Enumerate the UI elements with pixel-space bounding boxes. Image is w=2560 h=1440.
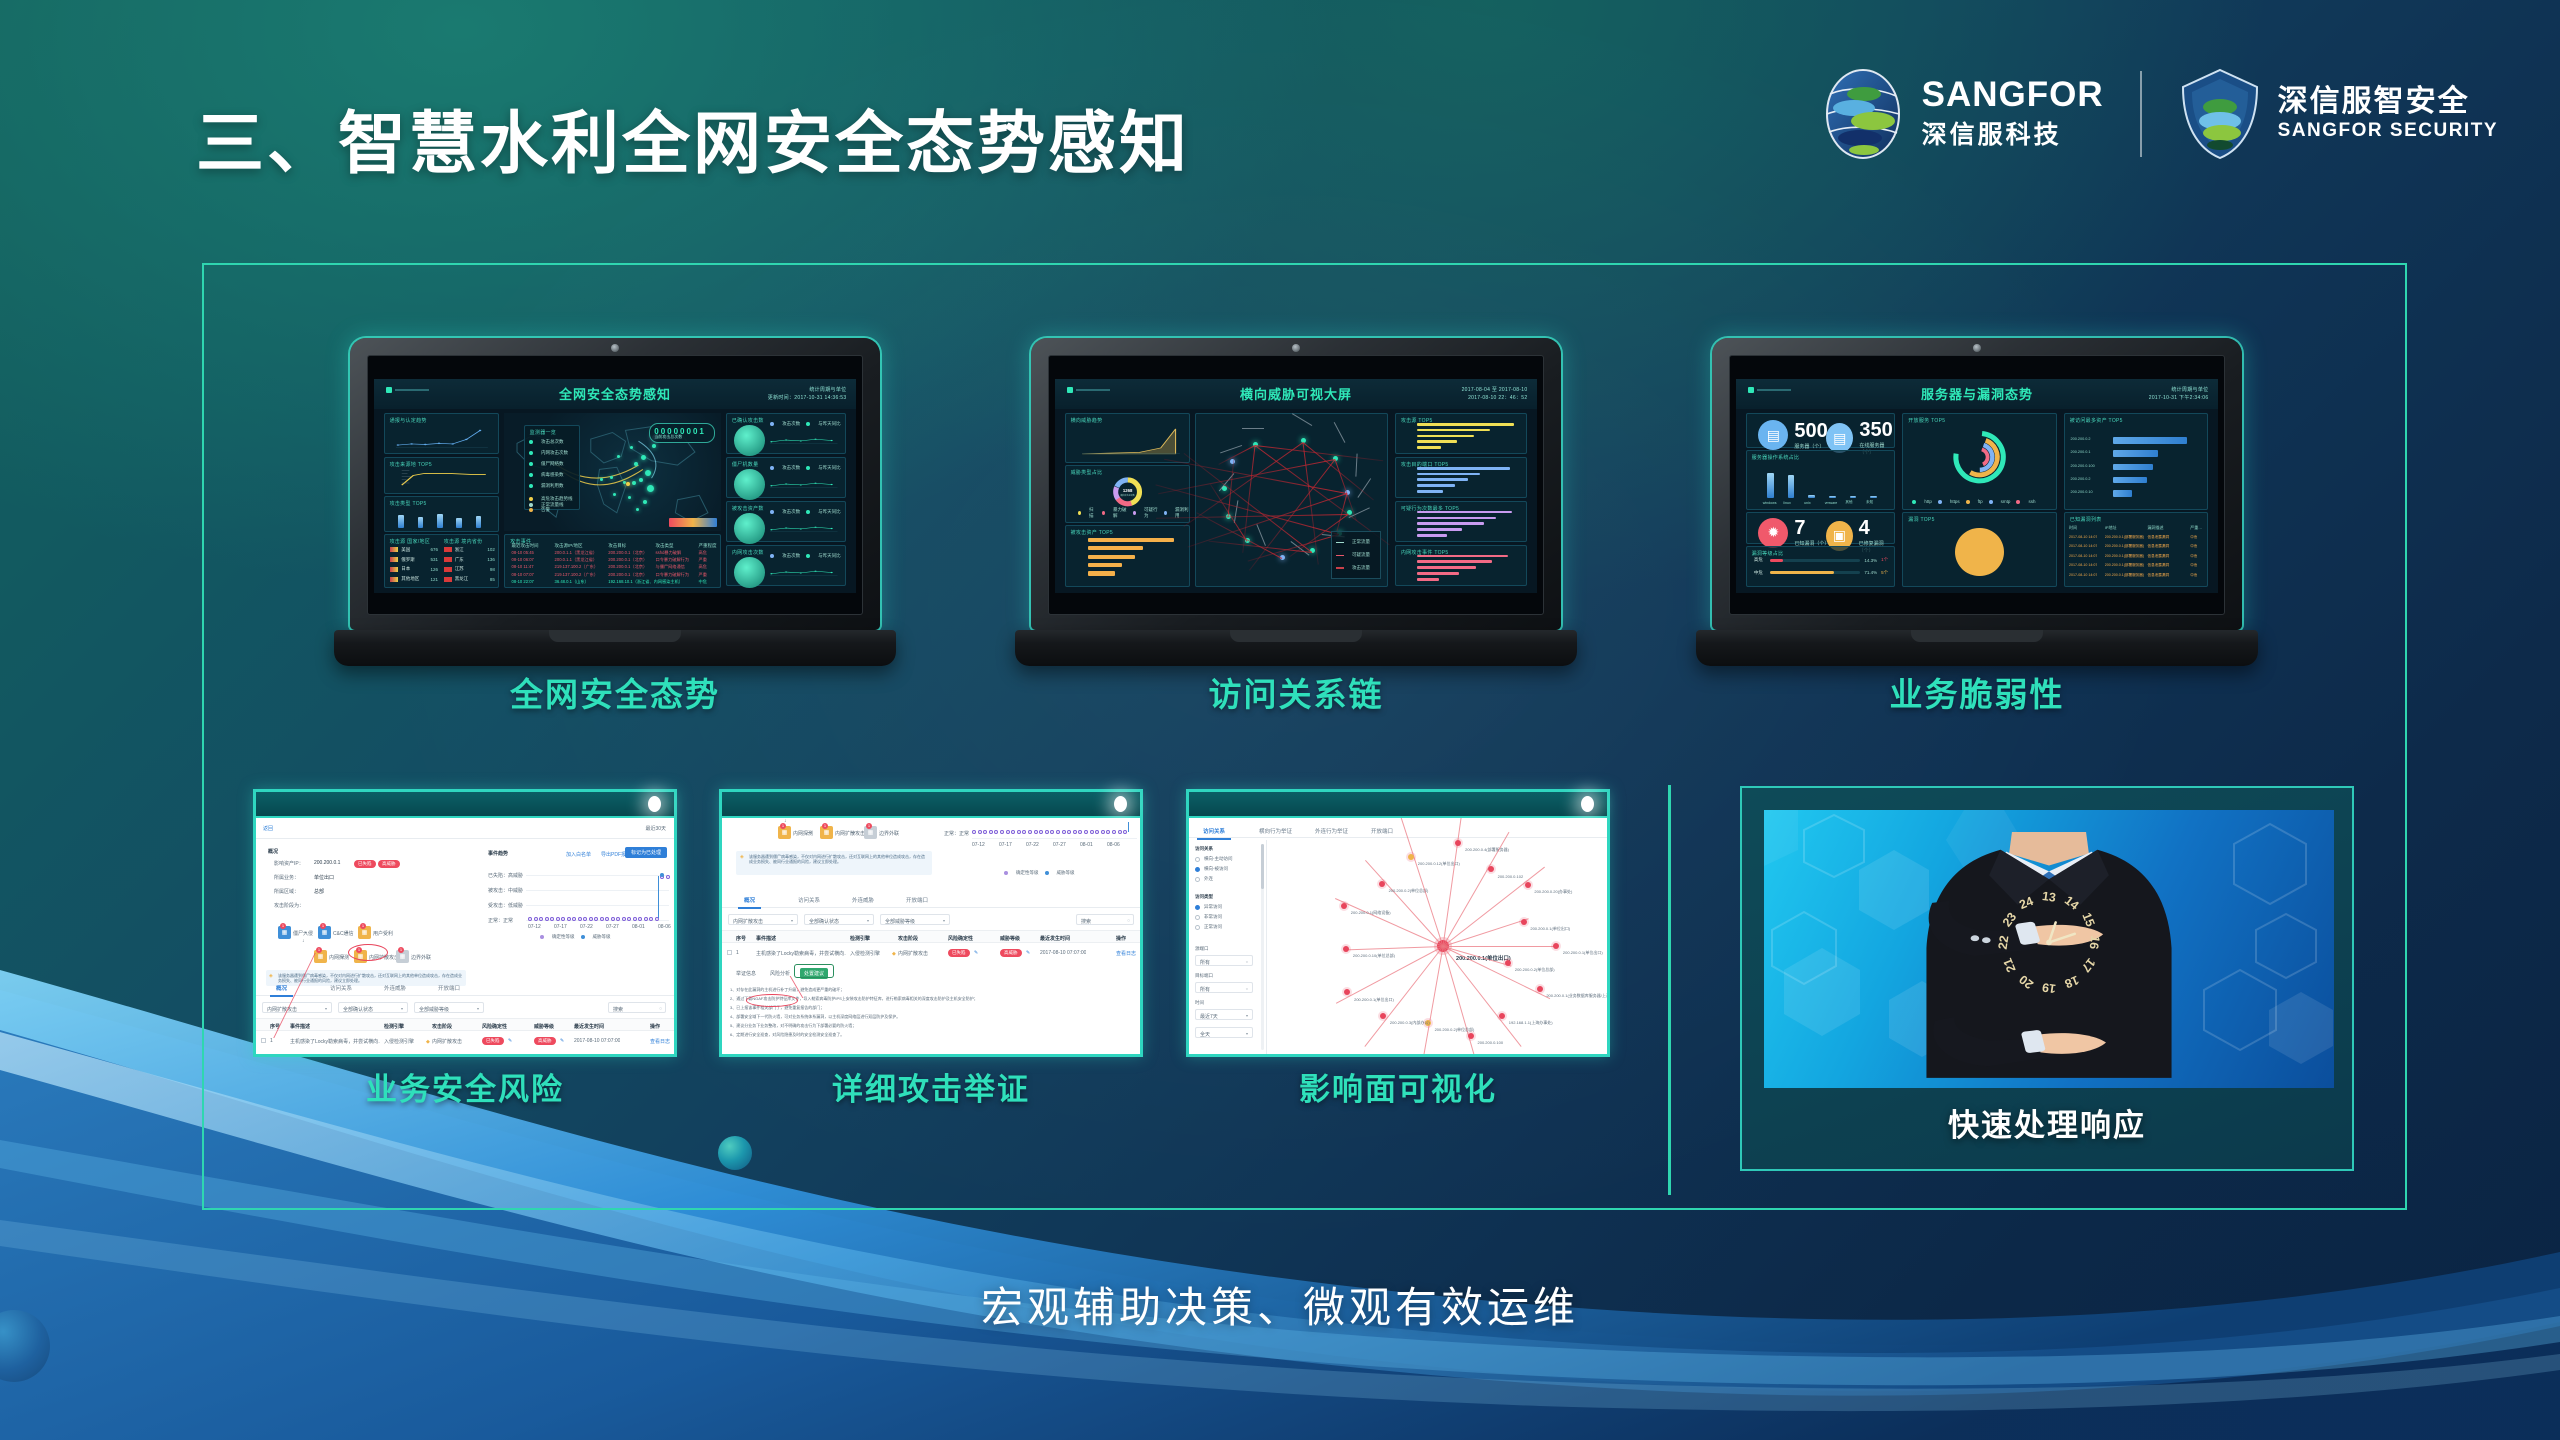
kpi-value: 7 bbox=[1794, 518, 1829, 538]
map-dot bbox=[641, 455, 646, 460]
laptop-screen-3: 服务器与漏洞态势 统计周期与单位 2017-10-31 下午2:34:06 ▤ … bbox=[1736, 379, 2218, 593]
table-header-cell: 攻击阶段 bbox=[432, 1023, 452, 1030]
graph-edge bbox=[1421, 946, 1444, 1054]
chart-point bbox=[616, 917, 620, 921]
table-header-cell: 风险确定性 bbox=[948, 935, 973, 942]
table-cell: sshd暴力破解 bbox=[656, 550, 682, 556]
legend-label: 威胁等级 bbox=[593, 934, 611, 940]
event-trend-chart: 07-1207-1707-2207-2708-0108-06 bbox=[972, 826, 1137, 862]
severity-label: 中危 bbox=[1754, 570, 1766, 576]
status-led-icon bbox=[648, 796, 661, 812]
kpi-value: 500 bbox=[1794, 421, 1827, 441]
legend-label: smtp bbox=[2001, 499, 2011, 504]
card-most-accessed: 被访问最多资产 TOP5 200.200.0.2200.200.0.1200.2… bbox=[2064, 413, 2209, 509]
bar-label: vmware bbox=[1825, 501, 1838, 505]
legend-label: 与昨天同比 bbox=[818, 509, 841, 515]
graph-edge bbox=[1442, 866, 1545, 947]
chart-point bbox=[994, 830, 998, 834]
card-title: 横向威胁趋势 bbox=[1071, 417, 1103, 424]
severity-row: 中危71.4%5个 bbox=[1754, 570, 1888, 576]
rank-name: 其他地区 bbox=[401, 576, 427, 582]
chart-point bbox=[1084, 830, 1088, 834]
card-metric: 内网攻击次数攻击次数与昨天同比 bbox=[726, 545, 847, 586]
search-icon: ○ bbox=[1127, 918, 1130, 924]
edit-icon[interactable]: ✎ bbox=[1026, 950, 1030, 956]
chart-point bbox=[1056, 830, 1060, 834]
clock-number: 21 bbox=[2000, 956, 2018, 974]
table-cell: 2017-08-10 14:07 bbox=[2069, 563, 2097, 567]
rank-name: 日本 bbox=[401, 566, 427, 572]
footer-text: 宏观辅助决策、微观有效运维 bbox=[0, 1274, 2560, 1335]
select-box[interactable]: 所有○ bbox=[1195, 955, 1253, 966]
mark-handled-button[interactable]: 标记为已处理 bbox=[625, 847, 667, 858]
webcam-icon bbox=[611, 344, 619, 352]
clock-icon: 131415161718192021222324 bbox=[1987, 880, 2111, 1004]
graph-stub bbox=[1242, 428, 1265, 429]
table-cell: 200.200.0.1(部署服务器) bbox=[2105, 573, 2144, 578]
table-cell: 200.200.0.1(部署服务器) bbox=[2105, 563, 2144, 568]
legend-item: 僵尸网络数 bbox=[529, 461, 564, 467]
select-value: 所有 bbox=[1200, 959, 1210, 966]
field-value: 200.200.0.1 bbox=[314, 860, 340, 866]
laptop-notch bbox=[1230, 630, 1362, 642]
radio-0[interactable] bbox=[1195, 857, 1200, 862]
filter-select[interactable]: 全部确认状态▾ bbox=[804, 914, 874, 925]
laptop-screen-2: 横向威胁可视大屏 2017-08-04 至 2017-08-10 2017-08… bbox=[1055, 379, 1537, 593]
legend-swatch bbox=[529, 473, 533, 477]
legend-label: 攻击总次数 bbox=[541, 439, 564, 445]
chart-point bbox=[1078, 830, 1082, 834]
chevron-down-icon: ▾ bbox=[477, 1006, 479, 1011]
table-cell: 2017-08-10 14:07 bbox=[2069, 544, 2097, 548]
chart-point bbox=[1112, 830, 1116, 834]
tab-2[interactable]: 外连威胁 bbox=[852, 896, 874, 904]
tab-0[interactable]: 概况 bbox=[276, 984, 287, 992]
radio-2[interactable] bbox=[1195, 877, 1200, 882]
chart-legend: 确定性等级威胁等级 bbox=[1004, 870, 1075, 876]
chart-point bbox=[1022, 830, 1026, 834]
chart-x-label: 08-06 bbox=[658, 924, 671, 930]
chart-point bbox=[1118, 830, 1122, 834]
map-dot bbox=[613, 493, 616, 496]
laptop-notch bbox=[549, 630, 681, 642]
radio-1[interactable] bbox=[1195, 867, 1200, 872]
panel-caption-1: 业务安全风险 bbox=[253, 1064, 677, 1109]
vuln-bubble bbox=[1955, 528, 2004, 577]
chart-point bbox=[978, 830, 982, 834]
search-icon: ○ bbox=[659, 1006, 662, 1012]
status-badge: 已失陷 bbox=[948, 949, 970, 957]
gridline bbox=[972, 838, 1137, 839]
graph-node bbox=[1341, 903, 1347, 909]
laptop-caption-1: 全网安全态势 bbox=[350, 668, 880, 716]
screenshot-panel-1: 返回 最近30天 概况 影响资产IP：200.200.0.1所属业务：单位出口所… bbox=[253, 789, 677, 1057]
select-value: 所有 bbox=[1200, 986, 1210, 993]
sparkline bbox=[767, 517, 840, 534]
laptop-lid: 全网安全态势感知 统计周期与单位 更新时间：2017-10-31 14:36:5… bbox=[350, 338, 880, 630]
legend-swatch bbox=[1045, 871, 1049, 875]
clock-number: 22 bbox=[1996, 934, 2012, 950]
filter-select[interactable]: 全部威胁等级▾ bbox=[880, 914, 950, 925]
bar bbox=[1417, 511, 1513, 514]
chart-point bbox=[638, 917, 642, 921]
status-led-icon bbox=[1114, 796, 1127, 812]
table-header-cell: 最近攻击时间 bbox=[512, 543, 539, 549]
legend-swatch bbox=[806, 422, 810, 426]
meta-line: 2017-08-10 22：46：52 bbox=[1462, 394, 1528, 403]
chart-point bbox=[1062, 830, 1066, 834]
chart-point bbox=[528, 917, 532, 921]
table-header-cell: 检测引擎 bbox=[850, 935, 870, 942]
svg-text:横向攻击总次数: 横向攻击总次数 bbox=[1120, 493, 1134, 497]
table-cell: 口令暴力破解行为 bbox=[656, 557, 690, 563]
chart-point bbox=[611, 917, 615, 921]
legend-label: 漏洞利用数 bbox=[541, 483, 564, 489]
graph-node-label: 200.200.0.20(办事处) bbox=[1534, 889, 1572, 895]
laptop-caption-2: 访问关系链 bbox=[1031, 668, 1561, 716]
chart-point bbox=[989, 830, 993, 834]
card-threat-donut: 威胁类型占比 1268 横向攻击总次数 扫描暴力破解可疑行为漏洞利用 bbox=[1065, 465, 1190, 523]
chart-title: 事件趋势 bbox=[488, 850, 508, 857]
table-cell: 高危 bbox=[699, 564, 707, 570]
legend-swatch bbox=[529, 484, 533, 488]
table-cell: 信息泄露漏洞 bbox=[2147, 563, 2169, 568]
chart-y-label: 正常：正常 bbox=[488, 917, 513, 924]
laptop-base bbox=[1696, 630, 2258, 666]
edit-icon[interactable]: ✎ bbox=[974, 950, 978, 956]
chart-point bbox=[1045, 830, 1049, 834]
table-header-cell: 漏洞描述 bbox=[2147, 525, 2163, 531]
tab-3[interactable]: 开放端口 bbox=[1371, 827, 1393, 835]
rank-item: 黑龙江85 bbox=[444, 576, 495, 582]
chart-x-label: 08-01 bbox=[632, 924, 645, 930]
view-log-link[interactable]: 查看日志 bbox=[650, 1038, 670, 1045]
panel-titlebar bbox=[1189, 792, 1607, 818]
filter-sidebar: 访问关系横向-主动访问横向-被访问外连访问类型异常访问非常访问正常访问 源端口所… bbox=[1189, 840, 1267, 1054]
field-label: 攻击阶段为： bbox=[274, 902, 304, 909]
map-dot bbox=[600, 478, 603, 481]
graph-edge bbox=[1346, 946, 1443, 950]
select-value: 全天 bbox=[1200, 1031, 1210, 1038]
legend-swatch bbox=[2016, 500, 2020, 504]
legend-label: 攻击次数 bbox=[782, 509, 800, 515]
bar bbox=[2113, 437, 2187, 444]
flow-badge: 1 bbox=[320, 923, 326, 929]
meta-line: 统计周期与单位 bbox=[2149, 386, 2209, 395]
search-input[interactable]: 搜索 ○ bbox=[1076, 914, 1134, 925]
card-attack-events: 攻击事件 最近攻击时间攻击源IP/地区攻击目标攻击类型严重程度 08-10 05… bbox=[504, 534, 721, 588]
field-value: 总部 bbox=[314, 888, 324, 895]
tab-0[interactable]: 概况 bbox=[744, 896, 755, 904]
rank-value: 102 bbox=[487, 547, 495, 552]
legend-swatch bbox=[1078, 511, 1081, 515]
field-value: 单位出口 bbox=[314, 874, 334, 881]
scrollbar[interactable] bbox=[1261, 844, 1264, 1050]
radio-label: 非常访问 bbox=[1204, 914, 1222, 920]
tab-3[interactable]: 开放端口 bbox=[438, 984, 460, 992]
laptop-bezel: 全网安全态势感知 统计周期与单位 更新时间：2017-10-31 14:36:5… bbox=[367, 355, 863, 615]
tab-1[interactable]: 访问关系 bbox=[798, 896, 820, 904]
webcam-icon bbox=[1973, 344, 1981, 352]
meta-line: 2017-10-31 下午2:34:06 bbox=[2149, 394, 2209, 403]
graph-node bbox=[1455, 840, 1461, 846]
filter-select[interactable]: 全部威胁等级▾ bbox=[414, 1002, 484, 1013]
chart-point bbox=[666, 875, 670, 879]
tab-1[interactable]: 横向行为举证 bbox=[1259, 827, 1292, 835]
legend-swatch bbox=[581, 935, 585, 939]
card-vuln-bubble: 漏洞 TOP5 bbox=[1902, 512, 2056, 587]
legend-swatch bbox=[529, 508, 533, 512]
bar bbox=[1870, 496, 1877, 498]
table-header-cell: 检测引擎 bbox=[384, 1023, 404, 1030]
chart-x-label: 07-17 bbox=[554, 924, 567, 930]
radio-label: 外连 bbox=[1204, 876, 1213, 882]
server-icon: ▤ bbox=[1826, 423, 1853, 453]
rank-label: 200.200.0.10 bbox=[2070, 490, 2092, 494]
map-dot bbox=[652, 444, 656, 448]
table-header-cell: 威胁等级 bbox=[1000, 935, 1020, 942]
legend-label: 攻击次数 bbox=[782, 421, 800, 427]
graph-node-label: 200.200.0.100 bbox=[1478, 1040, 1504, 1045]
legend-label: ftp bbox=[1978, 499, 1983, 504]
map-colorbar bbox=[669, 518, 717, 526]
card-vuln-table: 已知漏洞列表 时间IP地址漏洞描述严重… 2017-08-10 14:07200… bbox=[2064, 512, 2209, 587]
table-cell: 200.200.0.1（北京） bbox=[608, 572, 647, 578]
bar-label: 其他 bbox=[1845, 500, 1852, 505]
tab-3[interactable]: 开放端口 bbox=[906, 896, 928, 904]
legend-label: 正常流量 bbox=[1352, 539, 1370, 545]
chart-spike bbox=[658, 876, 659, 918]
laptop-mockup-2: 横向威胁可视大屏 2017-08-04 至 2017-08-10 2017-08… bbox=[1031, 338, 1561, 666]
tab-2[interactable]: 外连威胁 bbox=[384, 984, 406, 992]
card-trend: 通报与认定趋势 bbox=[384, 413, 500, 454]
rank-value: 136 bbox=[487, 557, 495, 562]
chart-point bbox=[1073, 830, 1077, 834]
legend-swatch bbox=[770, 554, 774, 558]
graph-edge bbox=[1335, 898, 1443, 947]
legend-item: 病毒感染数 bbox=[529, 472, 564, 478]
dashboard-meta: 统计周期与单位 2017-10-31 下午2:34:06 bbox=[2149, 386, 2209, 403]
legend-label: 攻击次数 bbox=[782, 465, 800, 471]
table-cell: 中危 bbox=[2190, 544, 2197, 549]
sub-tab-0[interactable]: 举证信息 bbox=[732, 968, 760, 979]
panel-frame: 访问关系横向行为举证外连行为举证开放端口 访问关系横向-主动访问横向-被访问外连… bbox=[1186, 789, 1610, 1057]
rank-item: 美国676 bbox=[390, 547, 438, 553]
legend-label: 暴力破解 bbox=[1113, 507, 1127, 519]
panel-caption-3: 影响面可视化 bbox=[1186, 1064, 1610, 1109]
card-metric: 僵尸机数量攻击次数与昨天同比 bbox=[726, 457, 847, 498]
rank-item: 俄罗斯531 bbox=[390, 557, 438, 563]
gauge-icon bbox=[734, 425, 765, 456]
table-cell: 1 bbox=[736, 950, 739, 956]
card-title: 服务器操作系统占比 bbox=[1752, 454, 1800, 461]
edit-icon[interactable]: ✎ bbox=[508, 1038, 512, 1044]
legend-swatch bbox=[529, 462, 533, 466]
screenshot-panel-2: ▦内网探测1▦内网扩散攻击1▦边界外联1⇒⇒↓ 该服务器遭到僵尸病毒感染，不仅对… bbox=[719, 789, 1143, 1057]
clock-number: 17 bbox=[2079, 955, 2099, 975]
legend-label: 僵尸网络数 bbox=[541, 461, 564, 467]
search-input[interactable]: 搜索 ○ bbox=[608, 1002, 666, 1013]
legend-swatch bbox=[770, 422, 774, 426]
filter-group-title: 访问关系 bbox=[1195, 846, 1213, 852]
view-log-link[interactable]: 查看日志 bbox=[1116, 950, 1136, 957]
page-title: 三、智慧水利全网安全态势感知 bbox=[196, 88, 1190, 187]
chart-point bbox=[556, 917, 560, 921]
gridline bbox=[526, 890, 669, 891]
table-header-cell: 攻击目标 bbox=[608, 543, 626, 549]
tab-0[interactable]: 访问关系 bbox=[1203, 827, 1225, 835]
laptop-caption-3: 业务脆弱性 bbox=[1712, 668, 2242, 716]
panel-caption-2: 详细攻击举证 bbox=[719, 1064, 1143, 1109]
chart-point bbox=[633, 917, 637, 921]
status-badge: 高威胁 bbox=[1000, 949, 1022, 957]
severity-count: 1个 bbox=[1881, 557, 1888, 563]
logo-security-cn-text: 深信服智安全 bbox=[2278, 86, 2498, 118]
select-label: 目标端口 bbox=[1195, 973, 1213, 979]
card-title: 攻击源 境内省份 bbox=[444, 538, 483, 545]
graph-node bbox=[1379, 881, 1385, 887]
multi-donut-chart bbox=[1940, 426, 2019, 488]
table-cell: 2017-08-10 14:07 bbox=[2069, 573, 2097, 577]
flag-icon bbox=[390, 567, 398, 572]
advice-item: 4、部署安全域下一代防火墙，可对业务系统体系漏洞，以主机深度网络层进行双层防护及… bbox=[730, 1015, 1130, 1020]
bar bbox=[1829, 496, 1836, 499]
chart-point bbox=[972, 830, 976, 834]
table-header-cell: 序号 bbox=[736, 935, 746, 942]
tab-bar: 概况访问关系外连威胁开放端口 bbox=[722, 890, 1140, 908]
flag-icon bbox=[444, 567, 452, 572]
card-attack-type: 攻击类型 TOP5 bbox=[384, 496, 500, 532]
chart-x-label: 08-06 bbox=[1107, 842, 1120, 848]
rank-item: 江苏98 bbox=[444, 566, 495, 572]
status-badge: 高威胁 bbox=[534, 1037, 556, 1045]
advice-item: 1、对存在此漏洞的主机进行补丁升级，避免造成更严重的破坏； bbox=[730, 988, 1130, 993]
metric-legend: 攻击次数与昨天同比 bbox=[770, 465, 841, 471]
rank-name: 美国 bbox=[401, 547, 427, 553]
table-cell: 入侵检测引擎 bbox=[384, 1038, 414, 1045]
table-header-cell: 威胁等级 bbox=[534, 1023, 554, 1030]
table-cell: 08-10 06:07 bbox=[512, 557, 534, 562]
service-legend: httphttpsftpsmtpssh bbox=[1912, 499, 2035, 504]
legend-swatch bbox=[1102, 511, 1105, 515]
server-icon: ▤ bbox=[1758, 420, 1788, 450]
card-title: 攻击源 国家/地区 bbox=[390, 538, 430, 545]
advice-item: 5、建议分业务下业务整改，对不明确的攻击行为下部署必要的防火墙； bbox=[730, 1024, 1130, 1029]
table-header-cell: 严重… bbox=[2190, 525, 2202, 531]
table-header-cell: 攻击源IP/地区 bbox=[555, 543, 583, 549]
legend-swatch bbox=[770, 510, 774, 514]
laptop-mockup-1: 全网安全态势感知 统计周期与单位 更新时间：2017-10-31 14:36:5… bbox=[350, 338, 880, 666]
row-checkbox[interactable] bbox=[261, 1038, 266, 1043]
radio-0[interactable] bbox=[1195, 905, 1200, 910]
table-cell: 200.0.1.1（黑龙江省） bbox=[555, 550, 598, 556]
chart-point bbox=[1039, 830, 1043, 834]
filter-select[interactable]: 内网扩散攻击▾ bbox=[728, 914, 798, 925]
logo-bar: SANGFOR 深信服科技 深信服智安全 SANGFOR SECURITY bbox=[1820, 60, 2498, 168]
rank-label: 200.200.0.2 bbox=[2070, 437, 2090, 441]
back-link[interactable]: 返回 bbox=[263, 825, 273, 832]
map-dot bbox=[639, 478, 643, 482]
laptop-base bbox=[1015, 630, 1577, 666]
rank-value: 676 bbox=[430, 547, 438, 552]
legend-item: 攻击总次数 bbox=[529, 439, 564, 445]
laptop-lid: 横向威胁可视大屏 2017-08-04 至 2017-08-10 2017-08… bbox=[1031, 338, 1561, 630]
chart-point bbox=[1101, 830, 1105, 834]
table-cell: 内网扩散攻击 bbox=[432, 1038, 462, 1045]
flow-badge: 1 bbox=[822, 823, 828, 829]
chart-point bbox=[605, 917, 609, 921]
radio-2[interactable] bbox=[1195, 925, 1200, 930]
table-cell: 严重 bbox=[699, 557, 707, 563]
radio-label: 横向-主动访问 bbox=[1204, 856, 1233, 862]
chart-point bbox=[545, 917, 549, 921]
card-title: 开放服务 TOP5 bbox=[1908, 417, 1945, 424]
rank-name: 江苏 bbox=[455, 566, 487, 572]
select-box[interactable]: 最近7天▾ bbox=[1195, 1009, 1253, 1020]
svg-text:1268: 1268 bbox=[1122, 488, 1132, 493]
rank-name: 黑龙江 bbox=[455, 576, 487, 582]
kpi-value: 350 bbox=[1859, 420, 1895, 440]
whitelist-link[interactable]: 加入白名单 bbox=[566, 851, 591, 858]
chevron-down-icon: ▾ bbox=[1246, 1013, 1248, 1018]
table-header-cell: 时间 bbox=[2069, 525, 2077, 531]
edit-icon[interactable]: ✎ bbox=[560, 1038, 564, 1044]
rank-name: 俄罗斯 bbox=[401, 557, 427, 563]
graph-node-label: 200.200.0.2(单位总部) bbox=[1389, 888, 1429, 894]
card-source-rank: 攻击来源地 TOP5 bbox=[384, 457, 500, 493]
field-label: 所属区域： bbox=[274, 888, 299, 895]
legend-label: 攻击流量 bbox=[1352, 565, 1370, 571]
bar-label: unix bbox=[1804, 501, 1811, 505]
bar bbox=[1417, 517, 1496, 520]
table-cell: 严重 bbox=[699, 572, 707, 578]
chart-point bbox=[644, 917, 648, 921]
graph-legend: 正常流量可疑流量攻击流量 bbox=[1331, 531, 1381, 579]
dashboard-meta: 统计周期与单位 更新时间：2017-10-31 14:36:53 bbox=[768, 386, 847, 403]
card-rank-lists: 攻击源 国家/地区 攻击源 境内省份 美国676俄罗斯531日本126其他地区1… bbox=[384, 534, 500, 588]
counter-label: 当前攻击总次数 bbox=[654, 434, 682, 440]
row-checkbox[interactable] bbox=[727, 950, 732, 955]
chart-y-label: 被攻击：中威胁 bbox=[488, 887, 523, 894]
range-selector[interactable]: 最近30天 bbox=[645, 825, 666, 832]
chevron-down-icon: ▾ bbox=[943, 918, 945, 923]
chart-point bbox=[1106, 830, 1110, 834]
flow-badge: 1 bbox=[360, 923, 366, 929]
severity-percent: 71.4% bbox=[1864, 570, 1877, 575]
bar bbox=[1417, 435, 1474, 438]
radio-1[interactable] bbox=[1195, 915, 1200, 920]
tip-text: 该服务器遭到僵尸病毒感染，不仅对内网进行扩散攻击，还对互联网上的其他单位造成攻击… bbox=[749, 854, 927, 865]
graph-node-label: 200.200.0.2(单位总部) bbox=[1515, 967, 1555, 973]
tab-2[interactable]: 外连行为举证 bbox=[1315, 827, 1348, 835]
card-kpi-servers: ▤ 500 服务器（个） ▤ 350 在线服务器（个） bbox=[1746, 413, 1895, 447]
map-dot-alert bbox=[626, 482, 630, 486]
legend-swatch bbox=[1164, 511, 1167, 515]
card-title: 僵尸机数量 bbox=[732, 461, 759, 468]
legend-swatch bbox=[1336, 567, 1344, 569]
meta-line: 更新时间：2017-10-31 14:36:53 bbox=[768, 394, 847, 403]
select-box[interactable]: 全天▾ bbox=[1195, 1027, 1253, 1038]
bar bbox=[2113, 477, 2147, 484]
graph-node bbox=[1488, 866, 1494, 872]
kpi-value: 4 bbox=[1859, 518, 1894, 538]
select-box[interactable]: 所有○ bbox=[1195, 982, 1253, 993]
rank-value: 98 bbox=[490, 567, 495, 572]
field-label: 影响资产IP： bbox=[274, 860, 304, 867]
table-cell: 中危 bbox=[2190, 563, 2197, 568]
bar bbox=[2113, 464, 2152, 471]
photo-panel-caption: 快速处理响应 bbox=[1742, 1100, 2352, 1145]
